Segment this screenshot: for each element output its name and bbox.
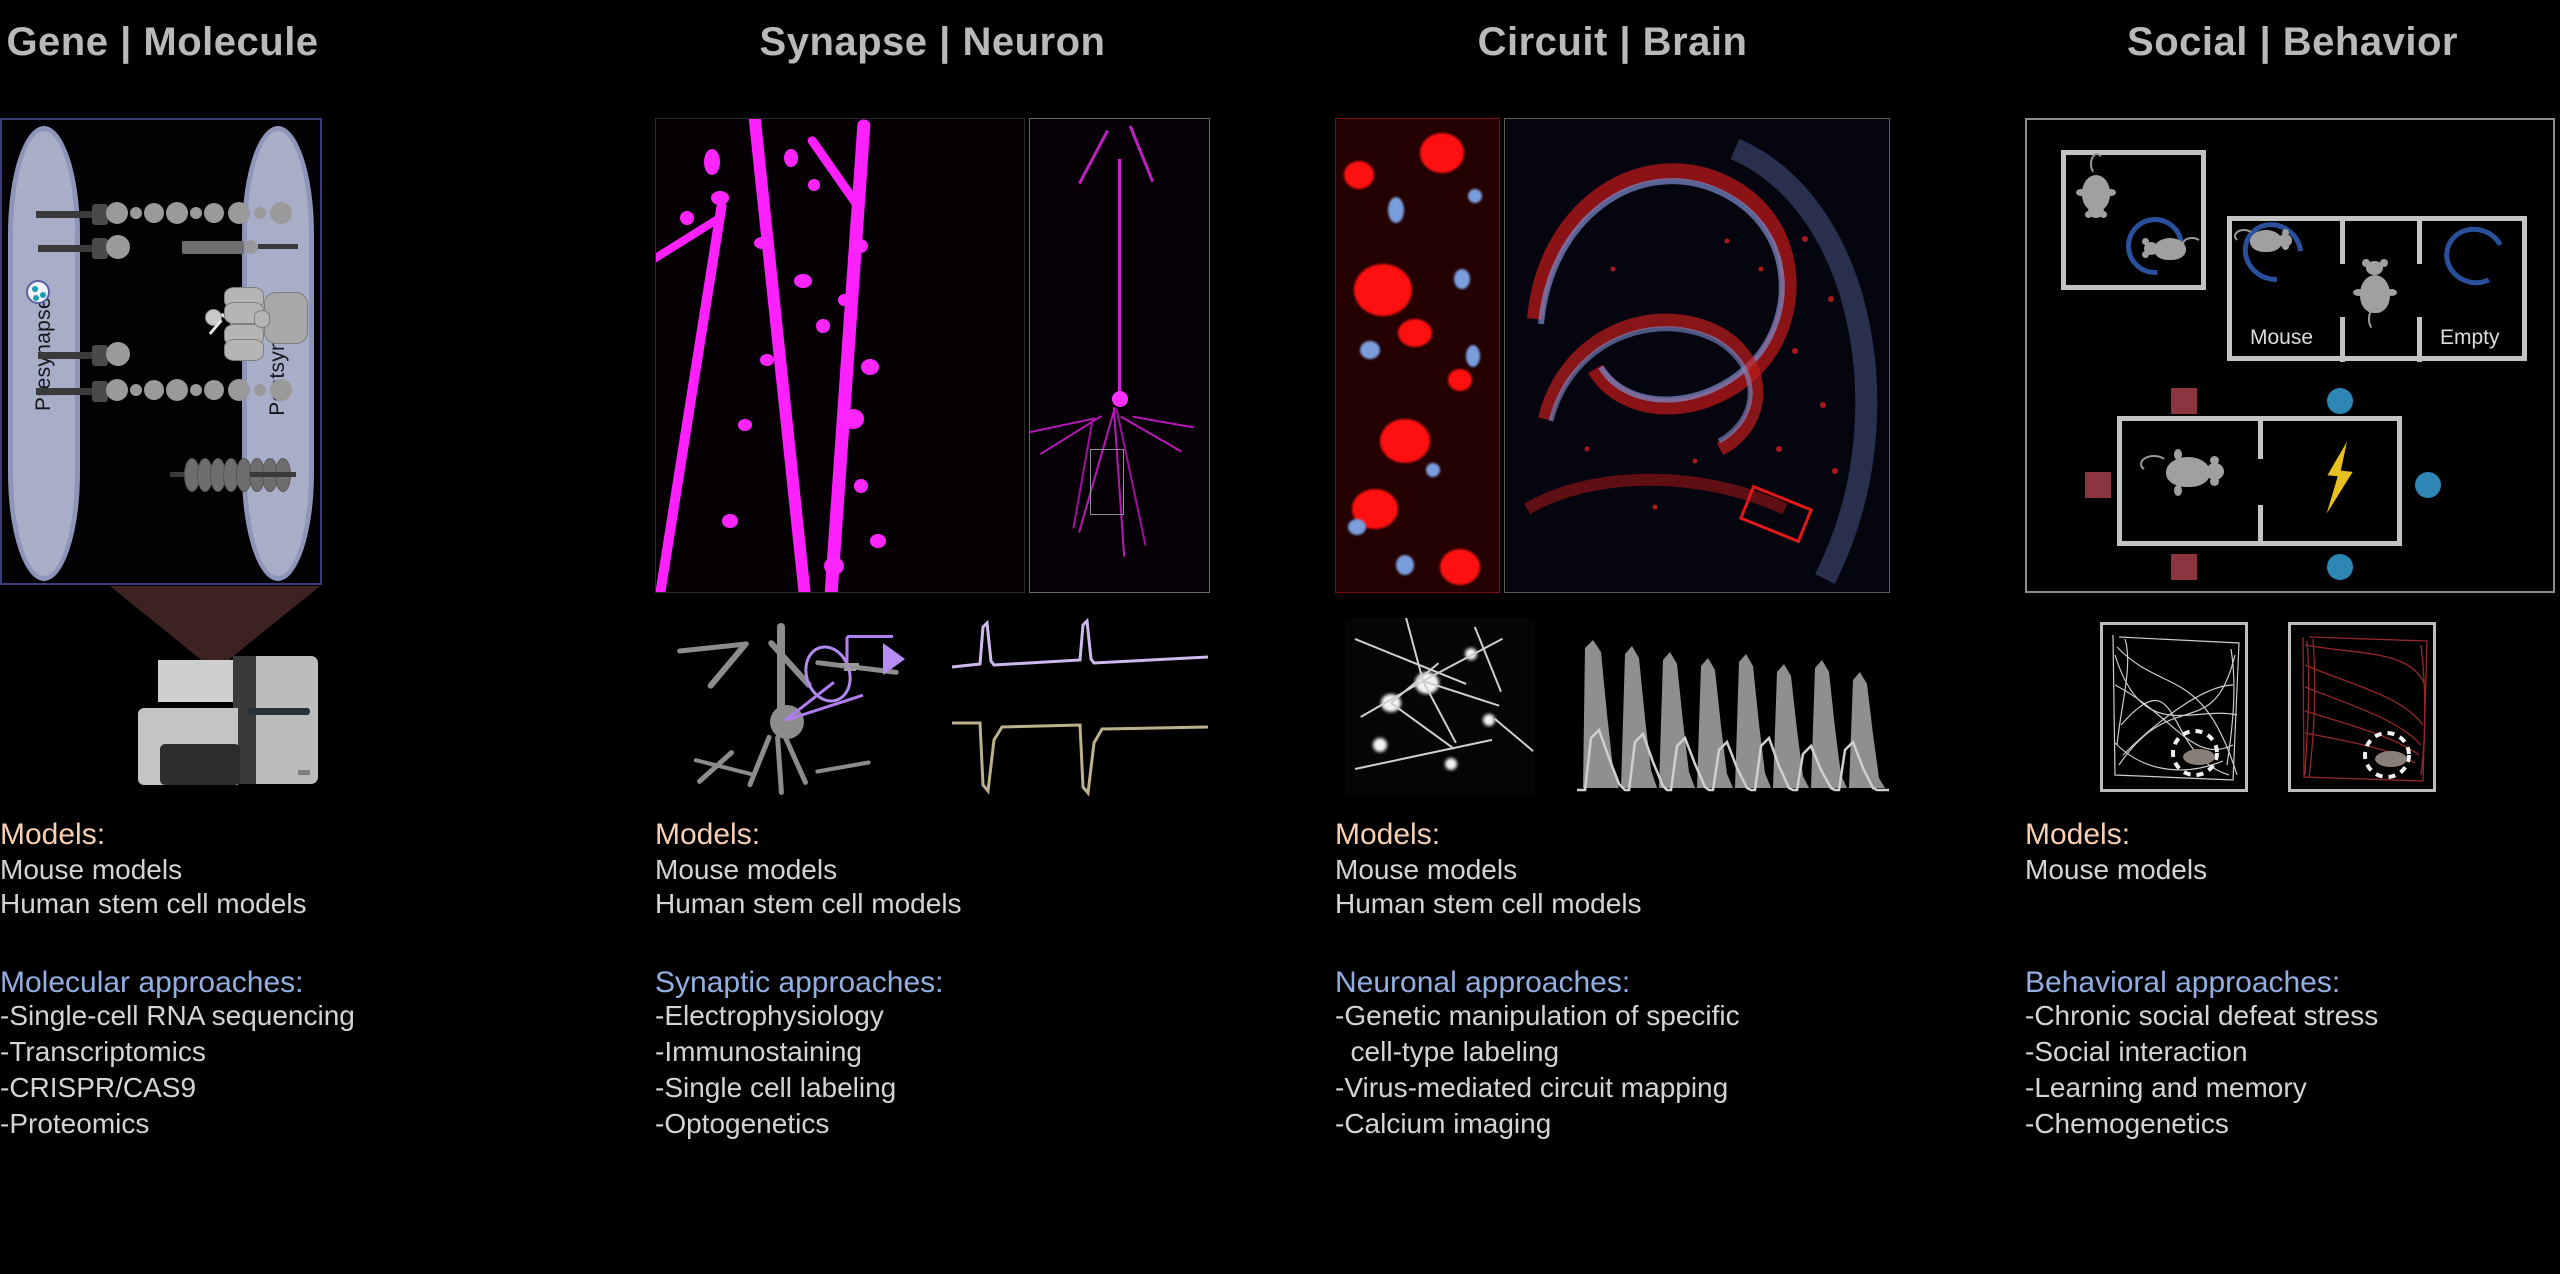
calcium-transient-traces [1575,618,1890,796]
models-label: Models: [1335,820,1975,850]
receptor-lobe-4 [224,339,264,361]
cue-circle-top [2327,388,2353,414]
approach-item: -Chronic social defeat stress [2025,1002,2560,1030]
protein-bead-chain-4 [106,378,230,402]
open-field-track-defeated [2288,622,2436,792]
patch-clamp-schematic [665,615,925,800]
calcium-trace-svg [1575,618,1890,796]
model-item: Mouse models [655,856,1295,884]
approach-label: Neuronal approaches: [1335,968,1975,998]
coil-stalk-right [250,472,296,477]
column-title-gene-molecule: Gene | Molecule [0,20,325,65]
approach-label: Synaptic approaches: [655,968,1295,998]
cue-square-top [2171,388,2197,414]
model-item: Mouse models [0,856,640,884]
approach-item: cell-type labeling [1335,1038,1975,1066]
signal-arrow-icon [883,643,905,675]
neuron-somata-image [1335,118,1500,593]
micrograph-pair-synapse [655,118,1210,593]
approach-item: -Optogenetics [655,1110,1295,1138]
approach-item: -Genetic manipulation of specific [1335,1002,1975,1030]
dendritic-spines-image [655,118,1025,593]
figure-canvas: Gene | Molecule Presynapse Postsynapse [0,0,2560,1274]
open-field-track-pair [2100,622,2480,800]
chamber-label-mouse: Mouse [2250,326,2313,350]
electrode-lead [847,635,893,638]
column-gene-molecule: Gene | Molecule Presynapse Postsynapse [0,0,640,1274]
presynaptic-stalk-3 [38,352,94,359]
model-item: Human stem cell models [0,890,640,918]
behavior-assay-schematic: Mouse Empty [2025,118,2555,593]
column-circuit-brain: Circuit | Brain [1335,0,1975,1274]
synapse-schematic: Presynapse Postsynapse [0,118,322,585]
presynaptic-stalk-1 [36,211,94,218]
text-block-circuit-brain: Models: Mouse models Human stem cell mod… [1335,820,1975,1146]
approach-item: -Transcriptomics [0,1038,640,1066]
cue-square-bottom [2171,554,2197,580]
model-item: Mouse models [1335,856,1975,884]
model-item: Mouse models [2025,856,2560,884]
hippocampus-svg [1505,119,1890,593]
electrode-shaft [846,637,849,667]
protein-bead-chain-1 [106,201,230,225]
trans-synaptic-bar [182,241,244,254]
social-interaction-arena [2061,150,2206,290]
cue-circle-bottom [2327,554,2353,580]
models-label: Models: [2025,820,2560,850]
wire-cup-icon-empty [2437,219,2514,293]
approach-item: -Single-cell RNA sequencing [0,1002,640,1030]
approach-item: -CRISPR/CAS9 [0,1074,640,1102]
approach-item: -Calcium imaging [1335,1110,1975,1138]
cue-circle-right [2415,472,2441,498]
three-chamber-apparatus: Mouse Empty [2227,216,2527,361]
approach-item: -Chemogenetics [2025,1110,2560,1138]
chamber-label-empty: Empty [2440,326,2500,350]
approach-item: -Virus-mediated circuit mapping [1335,1074,1975,1102]
protein-bead-chain-4b [228,378,298,402]
approach-item: -Learning and memory [2025,1074,2560,1102]
wire-cup-icon [2231,210,2316,294]
text-block-gene-molecule: Models: Mouse models Human stem cell mod… [0,820,640,1146]
neuronal-culture-image [1345,618,1535,796]
model-item: Human stem cell models [1335,890,1975,918]
dna-sequencer-icon [138,660,318,785]
electrophysiology-traces [950,615,1210,800]
column-synapse-neuron: Synapse | Neuron [655,0,1295,1274]
text-block-synapse-neuron: Models: Mouse models Human stem cell mod… [655,820,1295,1146]
protein-bead-chain-2 [106,235,134,259]
postsynaptic-stalk-2 [258,244,298,249]
open-field-track-control [2100,622,2248,792]
presynaptic-stalk-4 [36,388,94,395]
approach-item: -Electrophysiology [655,1002,1295,1030]
approach-item: -Immunostaining [655,1038,1295,1066]
postsynaptic-receptor-body [264,292,308,344]
shuttle-box-apparatus [2117,416,2402,546]
protein-bead-chain-1b [228,201,298,225]
approach-label: Molecular approaches: [0,968,640,998]
column-title-synapse-neuron: Synapse | Neuron [655,20,1210,65]
lightning-bolt-icon [2316,439,2364,517]
track-defeated-svg [2291,625,2436,792]
column-title-circuit-brain: Circuit | Brain [1335,20,1890,65]
cue-square-left [2085,472,2111,498]
immunofluorescence-pair [1335,118,1890,593]
approach-item: -Single cell labeling [655,1074,1295,1102]
approach-label: Behavioral approaches: [2025,968,2560,998]
models-label: Models: [0,820,640,850]
approach-item: -Proteomics [0,1110,640,1138]
hippocampus-section-image [1504,118,1890,593]
presynaptic-stalk-2 [38,245,94,252]
text-block-social-behavior: Models: Mouse models Behavioral approach… [2025,820,2560,1146]
protein-bead-chain-3 [106,342,134,366]
ephys-trace-svg [950,615,1210,800]
labeled-neuron-image [1029,118,1210,593]
column-title-social-behavior: Social | Behavior [2025,20,2560,65]
models-label: Models: [655,820,1295,850]
approach-item: -Social interaction [2025,1038,2560,1066]
receptor-tail [254,310,270,328]
roi-box-neuron [1090,449,1124,515]
model-item: Human stem cell models [655,890,1295,918]
track-control-svg [2103,625,2248,792]
column-social-behavior: Social | Behavior [2025,0,2560,1274]
synaptic-vesicle-icon [26,280,50,304]
